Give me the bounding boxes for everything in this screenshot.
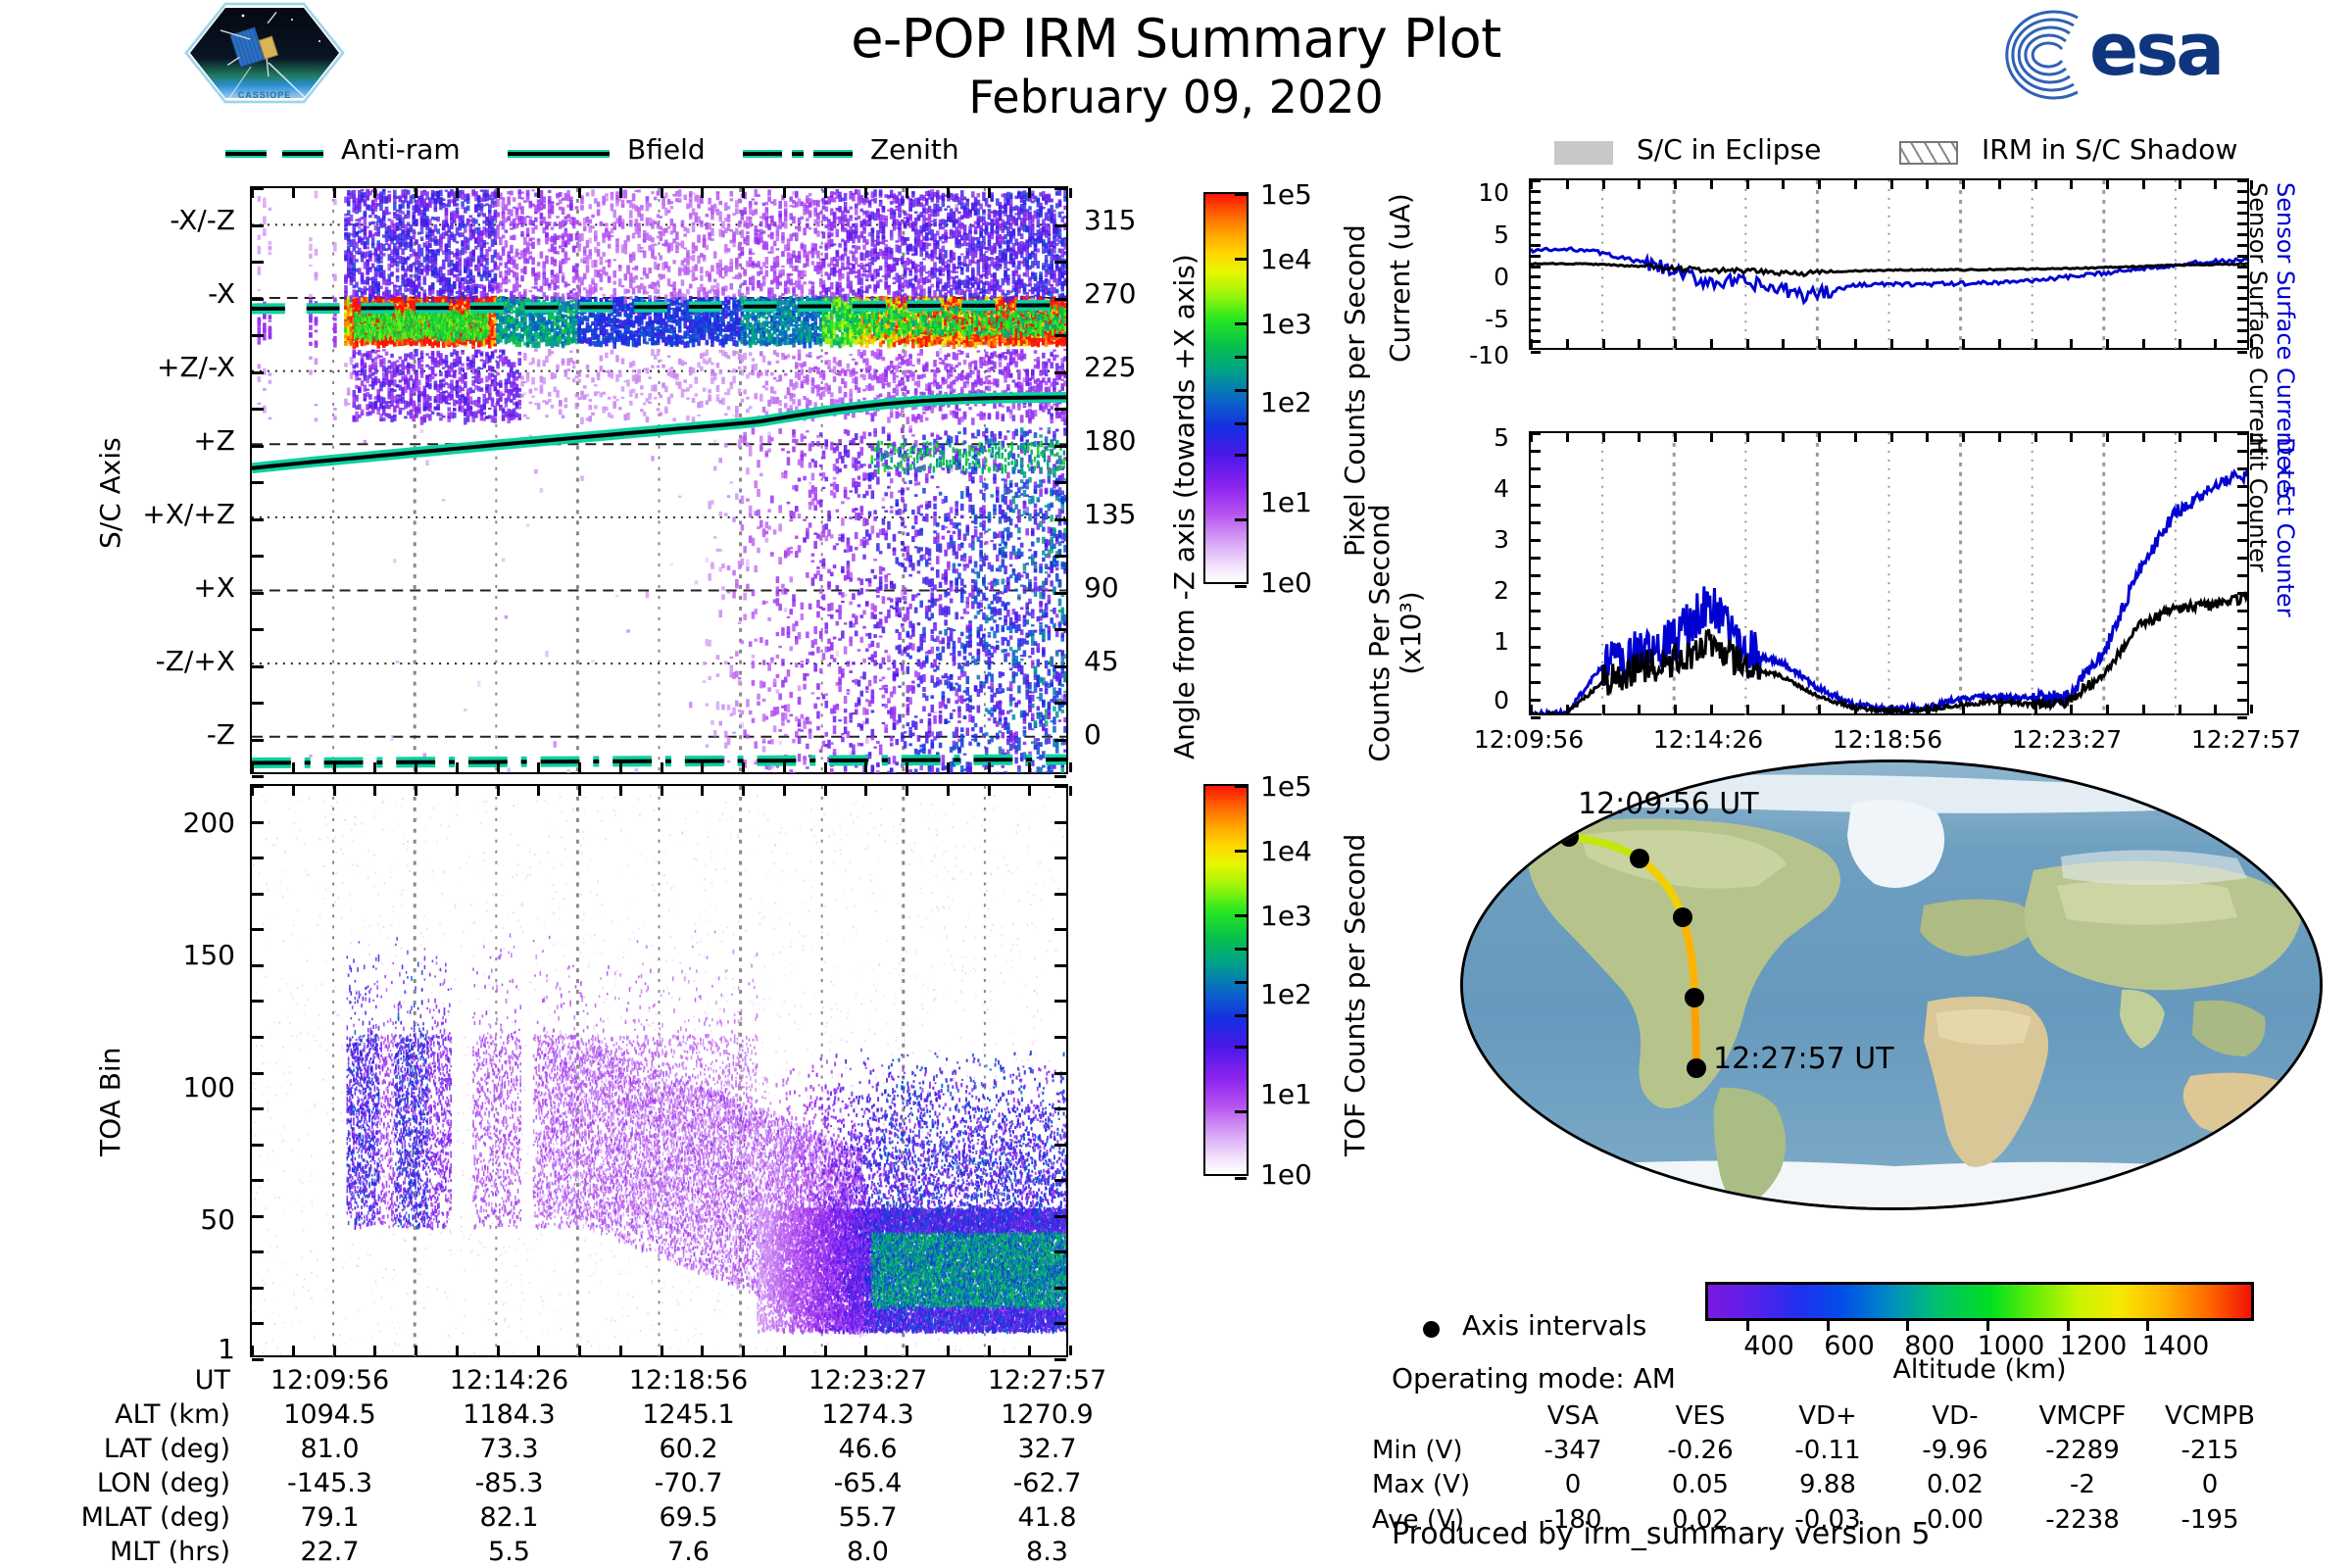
- axis-tick: [2237, 610, 2247, 612]
- axis-tick: [1531, 467, 1541, 470]
- panelB-ytick-100: 100: [108, 1071, 235, 1103]
- axis-tick: [1531, 190, 1541, 193]
- panelA-right-ytick-1: 270: [1084, 277, 1136, 310]
- axis-tick: [947, 188, 950, 198]
- axis-tick: [1531, 699, 1541, 702]
- axis-tick: [2237, 646, 2247, 649]
- axis-tick: [1054, 187, 1066, 190]
- lat-col-3: 46.6: [778, 1433, 957, 1467]
- axis-tick: [252, 775, 264, 778]
- axis-tick: [252, 1036, 264, 1039]
- tof-counts-colorbar: [1203, 784, 1249, 1176]
- axis-tick: [1926, 339, 1929, 348]
- axis-tick: [1998, 180, 2001, 189]
- axis-tick: [2237, 699, 2247, 702]
- axis-tick: [1602, 339, 1605, 348]
- axis-tick: [2106, 180, 2109, 189]
- axis-tick: [1674, 705, 1677, 713]
- axis-tick: [1710, 705, 1713, 713]
- panelD-right-label-black: Hit Counter: [2244, 437, 2272, 572]
- axis-tick: [1028, 786, 1031, 796]
- axis-tick: [456, 1346, 459, 1355]
- lat-col-1: 73.3: [419, 1433, 599, 1467]
- cbarA-tick-1e0: 1e0: [1260, 566, 1312, 599]
- axis-tick: [988, 188, 991, 198]
- panelA-right-ytick-0: 315: [1084, 204, 1136, 236]
- axis-tick: [373, 1346, 376, 1355]
- axis-tick: [2179, 433, 2181, 442]
- panelA-ytick-3: +Z: [108, 424, 235, 457]
- axis-tick: [1638, 705, 1641, 713]
- axis-tick: [252, 1107, 264, 1110]
- cbarB-title: TOF Counts per Second: [1339, 834, 1371, 1156]
- axis-tick: [1531, 255, 1541, 258]
- axis-tick: [578, 1346, 581, 1355]
- cbarA-tick-1e3: 1e3: [1260, 308, 1312, 340]
- axis-tick: [333, 1346, 336, 1355]
- axis-tick: [252, 1287, 264, 1290]
- cbarB-tick-1e0: 1e0: [1260, 1158, 1312, 1191]
- axis-tick: [864, 1346, 867, 1355]
- axis-tick: [1926, 180, 1929, 189]
- panelC-current-plot[interactable]: [1529, 178, 2249, 350]
- axis-tick: [252, 857, 264, 859]
- axis-tick: [2237, 432, 2247, 435]
- axis-tick: [1531, 574, 1541, 577]
- panelA-right-ytick-3: 180: [1084, 424, 1136, 457]
- colorbar-tick: [1235, 981, 1247, 984]
- axis-tick: [333, 188, 336, 198]
- axis-tick: [497, 762, 500, 772]
- cbarB-tick-1e1: 1e1: [1260, 1078, 1312, 1110]
- axis-tick: [1054, 1000, 1066, 1003]
- axis-tick: [1530, 180, 1533, 189]
- axis-tick: [497, 786, 500, 796]
- table-row-ut: UT 12:09:56 12:14:26 12:18:56 12:23:27 1…: [59, 1364, 1137, 1398]
- axis-tick: [1782, 339, 1785, 348]
- mlt-col-0: 22.7: [240, 1536, 419, 1568]
- axis-intervals-dot-icon: [1423, 1321, 1440, 1338]
- axis-tick: [415, 786, 417, 796]
- axis-tick: [906, 786, 908, 796]
- axis-tick: [824, 1346, 827, 1355]
- axis-tick: [1054, 445, 1066, 448]
- axis-tick: [1674, 339, 1677, 348]
- axis-tick: [824, 786, 827, 796]
- ground-track-map[interactable]: 12:09:56 UT 12:27:57 UT: [1460, 759, 2323, 1210]
- axis-tick: [1531, 201, 1541, 204]
- altitude-colorbar-title: Altitude (km): [1705, 1354, 2254, 1385]
- axis-tick: [2214, 433, 2217, 442]
- colorbar-tick: [1235, 914, 1247, 917]
- axis-tick: [1746, 339, 1749, 348]
- panelD-xtick-4: 12:27:57: [2158, 725, 2334, 754]
- axis-tick: [252, 334, 264, 337]
- axis-tick: [1054, 1179, 1066, 1182]
- panelA-right-ytick-6: 45: [1084, 645, 1119, 677]
- axis-tick: [252, 224, 264, 227]
- axis-tick: [1531, 627, 1541, 630]
- row-label-lon: LON (deg): [59, 1467, 240, 1501]
- axis-tick: [988, 1346, 991, 1355]
- axis-tick: [292, 188, 295, 198]
- axis-tick: [2106, 705, 2109, 713]
- panelC-right-label-black: Sensor Surface Current: [2244, 182, 2272, 456]
- panelA-right-axis-title: Angle from -Z axis (towards +X axis): [1168, 254, 1200, 759]
- row-label-lat: LAT (deg): [59, 1433, 240, 1467]
- axis-tick: [252, 1179, 264, 1182]
- axis-tick: [742, 786, 745, 796]
- axis-tick: [252, 555, 264, 558]
- axis-tick: [1531, 351, 1541, 354]
- axis-tick: [333, 762, 336, 772]
- axis-tick: [1854, 705, 1857, 713]
- axis-tick: [1854, 433, 1857, 442]
- colorbar-tick: [1235, 1014, 1247, 1017]
- ephemeris-table: UT 12:09:56 12:14:26 12:18:56 12:23:27 1…: [59, 1364, 1137, 1568]
- voltage-corner-cell: [1372, 1399, 1509, 1434]
- axis-tick: [1531, 681, 1541, 684]
- map-end-time-label: 12:27:57 UT: [1713, 1042, 1894, 1076]
- axis-tick: [1962, 433, 1965, 442]
- panelB-ytick-200: 200: [108, 807, 235, 839]
- axis-tick: [1054, 371, 1066, 374]
- colorbar-tick: [1235, 585, 1247, 588]
- axis-tick: [251, 1346, 254, 1355]
- colorbar-tick: [1235, 356, 1247, 359]
- axis-tick: [252, 1250, 264, 1253]
- legend-label-shadow: IRM in S/C Shadow: [1982, 133, 2237, 166]
- axis-tick: [1531, 485, 1541, 488]
- voltage-col-vdm: VD-: [1891, 1399, 2019, 1434]
- mlat-col-1: 82.1: [419, 1501, 599, 1536]
- lon-col-0: -145.3: [240, 1467, 419, 1501]
- axis-tick: [864, 188, 867, 198]
- altitude-colorbar-tick: [1986, 1318, 1989, 1331]
- panelA-sc-axis-heatmap[interactable]: [250, 186, 1068, 774]
- panelC-canvas: [1531, 180, 2247, 351]
- panelB-ytick-150: 150: [108, 939, 235, 971]
- axis-tick: [1531, 329, 1541, 332]
- axis-tick: [1054, 928, 1066, 931]
- axis-tick: [2237, 574, 2247, 577]
- panelD-xtick-2: 12:18:56: [1799, 725, 1976, 754]
- axis-tick: [1854, 180, 1857, 189]
- colorbar-tick: [1235, 258, 1247, 261]
- row-label-mlt: MLT (hrs): [59, 1536, 240, 1568]
- axis-tick: [1054, 1144, 1066, 1147]
- axis-tick: [252, 445, 264, 448]
- axis-tick: [2106, 339, 2109, 348]
- axis-tick: [251, 762, 254, 772]
- voltage-row-label-min: Min (V): [1372, 1434, 1509, 1468]
- axis-tick: [1028, 188, 1031, 198]
- axis-tick: [251, 188, 254, 198]
- colorbar-tick: [1235, 1046, 1247, 1049]
- min-vsa: -347: [1509, 1434, 1637, 1468]
- panelB-ytick-50: 50: [108, 1203, 235, 1236]
- panelA-ytick-0: -X/-Z: [108, 204, 235, 236]
- axis-tick: [1531, 266, 1541, 269]
- axis-tick: [783, 786, 786, 796]
- panelC-ytick-10: 10: [1392, 178, 1509, 207]
- axis-tick: [537, 188, 540, 198]
- row-label-ut: UT: [59, 1364, 240, 1398]
- axis-tick: [2237, 681, 2247, 684]
- altitude-colorbar-tick: [1906, 1318, 1909, 1331]
- axis-tick: [1998, 705, 2001, 713]
- map-ellipse: [1460, 759, 2323, 1210]
- panelD-xtick-0: 12:09:56: [1441, 725, 1617, 754]
- panelB-canvas: [252, 786, 1066, 1356]
- axis-tick: [252, 702, 264, 705]
- axis-tick: [1054, 555, 1066, 558]
- voltage-row-label-max: Max (V): [1372, 1468, 1509, 1502]
- cbarA-tick-1e2: 1e2: [1260, 386, 1312, 418]
- axis-tick: [497, 1346, 500, 1355]
- axis-tick: [252, 298, 264, 301]
- axis-tick: [252, 592, 264, 595]
- axis-tick: [661, 188, 663, 198]
- axis-tick: [742, 762, 745, 772]
- ave-vmcpf: -2238: [2019, 1503, 2146, 1538]
- cassiope-logo-icon: [182, 2, 347, 104]
- axis-tick: [1054, 1215, 1066, 1218]
- axis-tick: [1069, 1346, 1072, 1355]
- axis-tick: [906, 1346, 908, 1355]
- colorbar-tick: [1235, 389, 1247, 392]
- axis-tick: [1028, 1346, 1031, 1355]
- axis-tick: [252, 665, 264, 668]
- axis-tick: [988, 786, 991, 796]
- axis-tick: [1818, 433, 1821, 442]
- alt-col-0: 1094.5: [240, 1398, 419, 1433]
- lat-col-4: 32.7: [957, 1433, 1137, 1467]
- axis-tick: [2237, 592, 2247, 595]
- esa-wordmark: esa: [2089, 8, 2222, 92]
- axis-tick: [2179, 339, 2181, 348]
- axis-tick: [1998, 339, 2001, 348]
- axis-tick: [373, 786, 376, 796]
- axis-tick: [1531, 275, 1541, 278]
- axis-tick: [2214, 705, 2217, 713]
- axis-tick: [2106, 433, 2109, 442]
- table-row-alt: ALT (km) 1094.5 1184.3 1245.1 1274.3 127…: [59, 1398, 1137, 1433]
- axis-tick: [1890, 339, 1893, 348]
- axis-tick: [1054, 1072, 1066, 1075]
- axis-tick: [1531, 521, 1541, 524]
- axis-tick: [251, 786, 254, 796]
- axis-tick: [864, 762, 867, 772]
- max-vcmpb: 0: [2146, 1468, 2274, 1502]
- axis-tick: [619, 1346, 622, 1355]
- panelD-ytick-0: 0: [1392, 686, 1509, 714]
- page-subtitle: February 09, 2020: [686, 71, 1666, 123]
- axis-tick: [1531, 557, 1541, 560]
- panelA-right-ytick-2: 225: [1084, 351, 1136, 383]
- axis-tick: [701, 188, 704, 198]
- mlt-col-1: 5.5: [419, 1536, 599, 1568]
- min-vcmpb: -215: [2146, 1434, 2274, 1468]
- page-title: e-POP IRM Summary Plot: [686, 8, 1666, 70]
- cbarB-tick-1e4: 1e4: [1260, 835, 1312, 867]
- axis-tick: [1531, 592, 1541, 595]
- axis-tick: [661, 1346, 663, 1355]
- panelA-ytick-4: +X/+Z: [108, 498, 235, 530]
- panelA-ytick-2: +Z/-X: [108, 351, 235, 383]
- axis-tick: [2142, 705, 2145, 713]
- max-vdp: 9.88: [1764, 1468, 1891, 1502]
- panelC-ytick-m5: -5: [1392, 305, 1509, 333]
- panelA-right-ytick-5: 90: [1084, 571, 1119, 604]
- axis-tick: [1054, 224, 1066, 227]
- cbarA-tick-1e1: 1e1: [1260, 486, 1312, 518]
- axis-tick: [783, 762, 786, 772]
- axis-tick: [1531, 308, 1541, 311]
- axis-tick: [1531, 663, 1541, 666]
- table-row-mlt: MLT (hrs) 22.7 5.5 7.6 8.0 8.3: [59, 1536, 1137, 1568]
- axis-tick: [1531, 212, 1541, 215]
- mlat-col-0: 79.1: [240, 1501, 419, 1536]
- max-vdm: 0.02: [1891, 1468, 2019, 1502]
- axis-tick: [2034, 705, 2037, 713]
- axis-tick: [1566, 339, 1569, 348]
- esa-swirl-icon: [1980, 10, 2087, 100]
- axis-tick: [1054, 1322, 1066, 1325]
- ut-col-4: 12:27:57: [957, 1364, 1137, 1398]
- min-vdp: -0.11: [1764, 1434, 1891, 1468]
- axis-tick: [783, 188, 786, 198]
- axis-tick: [252, 261, 264, 264]
- axis-tick: [1054, 964, 1066, 967]
- axis-tick: [252, 1358, 264, 1361]
- axis-tick: [619, 786, 622, 796]
- axis-tick: [2070, 433, 2073, 442]
- mlat-col-3: 55.7: [778, 1501, 957, 1536]
- panelA-ytick-6: -Z/+X: [108, 645, 235, 677]
- axis-tick: [1710, 339, 1713, 348]
- axis-tick: [1674, 180, 1677, 189]
- axis-tick: [1674, 433, 1677, 442]
- axis-tick: [252, 371, 264, 374]
- axis-tick: [252, 408, 264, 411]
- axis-tick: [1054, 592, 1066, 595]
- axis-intervals-label: Axis intervals: [1462, 1309, 1646, 1342]
- axis-tick: [1054, 785, 1066, 788]
- axis-tick: [1710, 433, 1713, 442]
- panelC-ytick-5: 5: [1392, 220, 1509, 249]
- axis-tick: [701, 762, 704, 772]
- axis-tick: [1530, 339, 1533, 348]
- panelA-right-ytick-4: 135: [1084, 498, 1136, 530]
- cbarB-tick-1e3: 1e3: [1260, 900, 1312, 932]
- panelA-right-ytick-7: 0: [1084, 718, 1102, 751]
- panelB-toa-bin-heatmap[interactable]: [250, 784, 1068, 1357]
- axis-tick: [1531, 233, 1541, 236]
- cbarB-tick-1e2: 1e2: [1260, 978, 1312, 1010]
- axis-tick: [1926, 705, 1929, 713]
- axis-tick: [824, 762, 827, 772]
- axis-tick: [1054, 481, 1066, 484]
- axis-tick: [578, 762, 581, 772]
- panelA-ytick-7: -Z: [108, 718, 235, 751]
- axis-tick: [2237, 663, 2247, 666]
- colorbar-tick: [1235, 422, 1247, 425]
- colorbar-tick: [1235, 1110, 1247, 1113]
- panelA-canvas: [252, 188, 1066, 773]
- axis-tick: [1638, 180, 1641, 189]
- axis-tick: [864, 786, 867, 796]
- axis-tick: [1054, 298, 1066, 301]
- axis-tick: [1054, 1287, 1066, 1290]
- row-label-mlat: MLAT (deg): [59, 1501, 240, 1536]
- axis-tick: [578, 188, 581, 198]
- axis-tick: [2237, 627, 2247, 630]
- axis-tick: [2034, 180, 2037, 189]
- table-row-lat: LAT (deg) 81.0 73.3 60.2 46.6 32.7: [59, 1433, 1137, 1467]
- axis-tick: [292, 762, 295, 772]
- axis-tick: [1962, 339, 1965, 348]
- axis-tick: [1054, 334, 1066, 337]
- lat-col-0: 81.0: [240, 1433, 419, 1467]
- axis-tick: [742, 1346, 745, 1355]
- axis-tick: [1054, 665, 1066, 668]
- axis-tick: [415, 188, 417, 198]
- axis-tick: [1531, 610, 1541, 612]
- panelA-ytick-5: +X: [108, 571, 235, 604]
- lon-col-4: -62.7: [957, 1467, 1137, 1501]
- axis-tick: [252, 1144, 264, 1147]
- axis-tick: [1818, 180, 1821, 189]
- pixel-counts-colorbar: [1203, 192, 1249, 584]
- axis-tick: [2142, 433, 2145, 442]
- axis-tick: [252, 893, 264, 896]
- axis-tick: [252, 928, 264, 931]
- axis-tick: [1054, 775, 1066, 778]
- axis-tick: [1638, 433, 1641, 442]
- voltage-row-min: Min (V) -347 -0.26 -0.11 -9.96 -2289 -21…: [1372, 1434, 2274, 1468]
- panelD-ytick-5: 5: [1392, 423, 1509, 452]
- axis-tick: [1638, 339, 1641, 348]
- colorbar-tick: [1235, 1177, 1247, 1180]
- panelD-ytick-4: 4: [1392, 474, 1509, 503]
- axis-tick: [1531, 244, 1541, 247]
- axis-tick: [824, 188, 827, 198]
- ut-col-3: 12:23:27: [778, 1364, 957, 1398]
- axis-tick: [1530, 705, 1533, 713]
- panelD-counts-plot[interactable]: [1529, 431, 2249, 715]
- cbarB-tick-1e5: 1e5: [1260, 770, 1312, 803]
- axis-tick: [292, 1346, 295, 1355]
- axis-tick: [661, 786, 663, 796]
- axis-tick: [1602, 180, 1605, 189]
- axis-tick: [1782, 705, 1785, 713]
- lon-col-3: -65.4: [778, 1467, 957, 1501]
- colorbar-tick: [1235, 454, 1247, 457]
- axis-tick: [2237, 716, 2247, 719]
- panelC-ytick-0: 0: [1392, 263, 1509, 291]
- min-ves: -0.26: [1637, 1434, 1764, 1468]
- axis-tick: [537, 1346, 540, 1355]
- axis-tick: [1054, 893, 1066, 896]
- map-start-time-label: 12:09:56 UT: [1578, 787, 1759, 821]
- axis-tick: [2070, 705, 2073, 713]
- axis-tick: [292, 786, 295, 796]
- axis-tick: [252, 1072, 264, 1075]
- axis-tick: [619, 188, 622, 198]
- panelD-canvas: [1531, 433, 2247, 715]
- axis-tick: [252, 481, 264, 484]
